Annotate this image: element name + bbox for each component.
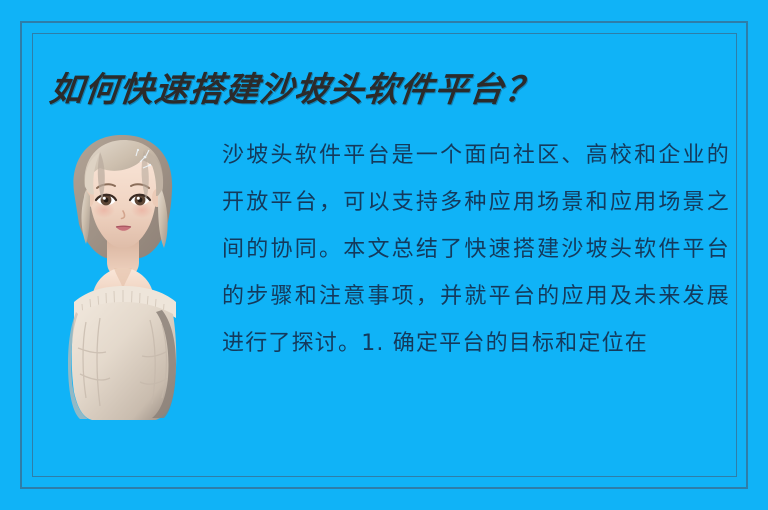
page-title: 如何快速搭建沙坡头软件平台？ <box>47 62 692 110</box>
illustration-anime-girl-portrait <box>44 126 200 422</box>
article-body-text: 沙坡头软件平台是一个面向社区、高校和企业的开放平台，可以支持多种应用场景和应用场… <box>222 132 730 367</box>
poster-canvas: 如何快速搭建沙坡头软件平台？ <box>0 0 768 510</box>
